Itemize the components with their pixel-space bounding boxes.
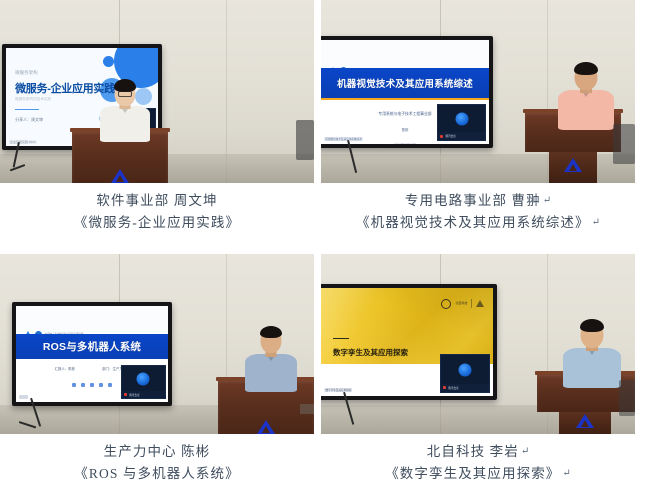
panel-1-photo[interactable]: 微服务架构 微服务-企业应用实践 微服务架构的技术实践 分享人：周文坤 企业应用… xyxy=(0,0,314,183)
video-tile-label: 腾讯会议 xyxy=(448,386,458,390)
background-chair xyxy=(613,124,635,164)
slide-icon xyxy=(81,383,85,387)
slide-background: 中国电子科技集团公司第某研究所 ROS与多机器人系统 汇报人：陈彬 部门：生产力… xyxy=(16,306,168,402)
panel-3-caption: 生产力中心 陈彬 《ROS 与多机器人系统》 xyxy=(0,434,314,485)
speaker-hair xyxy=(580,319,604,332)
speaker-hair xyxy=(574,62,598,75)
slide-title-band: 机器视觉技术及其应用系统综述 xyxy=(321,68,489,98)
panel-1: 微服务架构 微服务-企业应用实践 微服务架构的技术实践 分享人：周文坤 企业应用… xyxy=(0,0,314,234)
video-conference-tile: 腾讯会议 xyxy=(437,104,486,141)
slide-icon xyxy=(90,383,94,387)
recording-dot-icon xyxy=(443,386,446,389)
panel-2-photo[interactable]: 中国电子科技集团公司第某研究所 机器视觉技术及其应用系统综述 专用系统与电子技术… xyxy=(321,0,635,183)
slide-title: 数字孪生及其应用探索 xyxy=(333,347,408,358)
slide-header xyxy=(16,306,168,332)
panel-2-slide: 中国电子科技集团公司第某研究所 机器视觉技术及其应用系统综述 专用系统与电子技术… xyxy=(321,40,489,144)
participant-avatar-icon xyxy=(455,113,468,126)
panel-3-speaker xyxy=(240,326,302,388)
caption-text: 《数字孪生及其应用探索》 xyxy=(385,466,560,481)
paragraph-mark-icon: ↵ xyxy=(541,195,551,206)
video-tile-bar: 腾讯会议 xyxy=(441,384,489,392)
video-tile-bar: 腾讯会议 xyxy=(122,391,165,398)
panel-3-slide: 中国电子科技集团公司第某研究所 ROS与多机器人系统 汇报人：陈彬 部门：生产力… xyxy=(16,306,168,402)
caption-line-2: 《机器视觉技术及其应用系统综述》↵ xyxy=(321,212,635,234)
panel-3-tv: 中国电子科技集团公司第某研究所 ROS与多机器人系统 汇报人：陈彬 部门：生产力… xyxy=(12,302,172,406)
panel-4: 北自科技 数字孪生及其应用探索 专题汇报 数字孪生及其应用探索 xyxy=(321,254,635,485)
slide-subtitle: 微服务架构的技术实践 xyxy=(15,97,51,102)
slide-title: ROS与多机器人系统 xyxy=(43,339,141,354)
paragraph-mark-icon: ↵ xyxy=(519,446,529,457)
panel-3: 中国电子科技集团公司第某研究所 ROS与多机器人系统 汇报人：陈彬 部门：生产力… xyxy=(0,254,314,485)
speaker-glasses-icon xyxy=(118,91,132,97)
caption-line-2: 《数字孪生及其应用探索》↵ xyxy=(321,463,635,485)
podium-logo-icon xyxy=(576,414,594,428)
video-conference-tile: 腾讯会议 xyxy=(440,354,490,393)
caption-line-2: 《微服务-企业应用实践》 xyxy=(0,212,314,234)
caption-line-1: 软件事业部 周文坤 xyxy=(0,190,314,212)
logo-divider xyxy=(471,299,472,308)
slide-date: 2021年6月24日 xyxy=(321,142,489,144)
mountain-logo-icon xyxy=(476,300,484,307)
photo-grid: 微服务架构 微服务-企业应用实践 微服务架构的技术实践 分享人：周文坤 企业应用… xyxy=(0,0,669,497)
podium-logo-icon xyxy=(111,169,129,183)
slide-kicker: 微服务架构 xyxy=(15,70,38,76)
slide-rule xyxy=(15,109,39,111)
slide-background: 中国电子科技集团公司第某研究所 机器视觉技术及其应用系统综述 专用系统与电子技术… xyxy=(321,40,489,144)
participant-avatar-icon xyxy=(137,373,150,386)
podium-logo-icon xyxy=(257,420,275,434)
video-tile-label: 腾讯会议 xyxy=(129,393,139,397)
panel-4-slide: 北自科技 数字孪生及其应用探索 专题汇报 数字孪生及其应用探索 xyxy=(321,288,493,396)
panel-2-speaker xyxy=(553,60,619,126)
slide-title: 机器视觉技术及其应用系统综述 xyxy=(337,76,473,90)
caption-line-2: 《ROS 与多机器人系统》 xyxy=(0,463,314,485)
slide-icon xyxy=(99,383,103,387)
video-conference-tile: 腾讯会议 xyxy=(121,365,166,400)
slide-corner-tag xyxy=(19,395,28,399)
panel-2: 中国电子科技集团公司第某研究所 机器视觉技术及其应用系统综述 专用系统与电子技术… xyxy=(321,0,635,234)
paragraph-mark-icon: ↵ xyxy=(560,468,570,479)
background-chair xyxy=(296,120,314,160)
panel-4-photo[interactable]: 北自科技 数字孪生及其应用探索 专题汇报 数字孪生及其应用探索 xyxy=(321,254,635,434)
podium-logo-icon xyxy=(564,158,582,172)
slide-logo-text: 北自科技 xyxy=(455,302,467,306)
slide-dash-rule xyxy=(333,338,349,340)
panel-4-speaker xyxy=(559,318,625,384)
slide-speaker: 分享人：周文坤 xyxy=(15,117,43,123)
slide-footer: 数字孪生及其应用探索 xyxy=(324,388,352,392)
slide-title-band: ROS与多机器人系统 xyxy=(16,334,168,359)
slide-background: 北自科技 数字孪生及其应用探索 专题汇报 数字孪生及其应用探索 xyxy=(321,288,493,396)
panel-2-tv: 中国电子科技集团公司第某研究所 机器视觉技术及其应用系统综述 专用系统与电子技术… xyxy=(321,36,493,148)
video-tile-bar: 腾讯会议 xyxy=(438,132,485,140)
caption-line-1: 生产力中心 陈彬 xyxy=(0,441,314,463)
speaker-hair xyxy=(260,326,282,338)
paragraph-mark-icon: ↵ xyxy=(590,217,600,228)
slide-header xyxy=(321,40,489,68)
slide-icon xyxy=(72,383,76,387)
caption-text: 北自科技 李岩 xyxy=(427,444,519,459)
caption-line-1: 专用电路事业部 曹翀↵ xyxy=(321,190,635,212)
caption-text: 《机器视觉技术及其应用系统综述》 xyxy=(356,215,590,230)
video-tile-label: 腾讯会议 xyxy=(445,134,455,138)
ring-logo-icon xyxy=(441,299,451,309)
panel-1-speaker xyxy=(95,78,155,138)
panel-1-caption: 软件事业部 周文坤 《微服务-企业应用实践》 xyxy=(0,183,314,234)
panel-2-caption: 专用电路事业部 曹翀↵ 《机器视觉技术及其应用系统综述》↵ xyxy=(321,183,635,234)
background-desk xyxy=(300,404,314,414)
decor-bubble xyxy=(103,56,114,67)
recording-dot-icon xyxy=(440,135,443,138)
slide-logo: 北自科技 xyxy=(441,299,484,309)
panel-3-photo[interactable]: 中国电子科技集团公司第某研究所 ROS与多机器人系统 汇报人：陈彬 部门：生产力… xyxy=(0,254,314,434)
document-page: 微服务架构 微服务-企业应用实践 微服务架构的技术实践 分享人：周文坤 企业应用… xyxy=(0,0,669,497)
background-chair xyxy=(619,380,635,416)
slide-footer: 企业应用实践 2021 xyxy=(9,140,37,144)
slide-icon xyxy=(108,383,112,387)
recording-dot-icon xyxy=(124,393,127,396)
caption-line-1: 北自科技 李岩↵ xyxy=(321,441,635,463)
panel-4-tv: 北自科技 数字孪生及其应用探索 专题汇报 数字孪生及其应用探索 xyxy=(321,284,497,400)
panel-4-caption: 北自科技 李岩↵ 《数字孪生及其应用探索》↵ xyxy=(321,434,635,485)
caption-text: 专用电路事业部 曹翀 xyxy=(405,193,541,208)
slide-meta-left: 汇报人：陈彬 xyxy=(55,366,75,371)
slide-footer: 机器视觉技术及其应用系统综述 xyxy=(324,137,362,141)
participant-avatar-icon xyxy=(459,364,472,377)
